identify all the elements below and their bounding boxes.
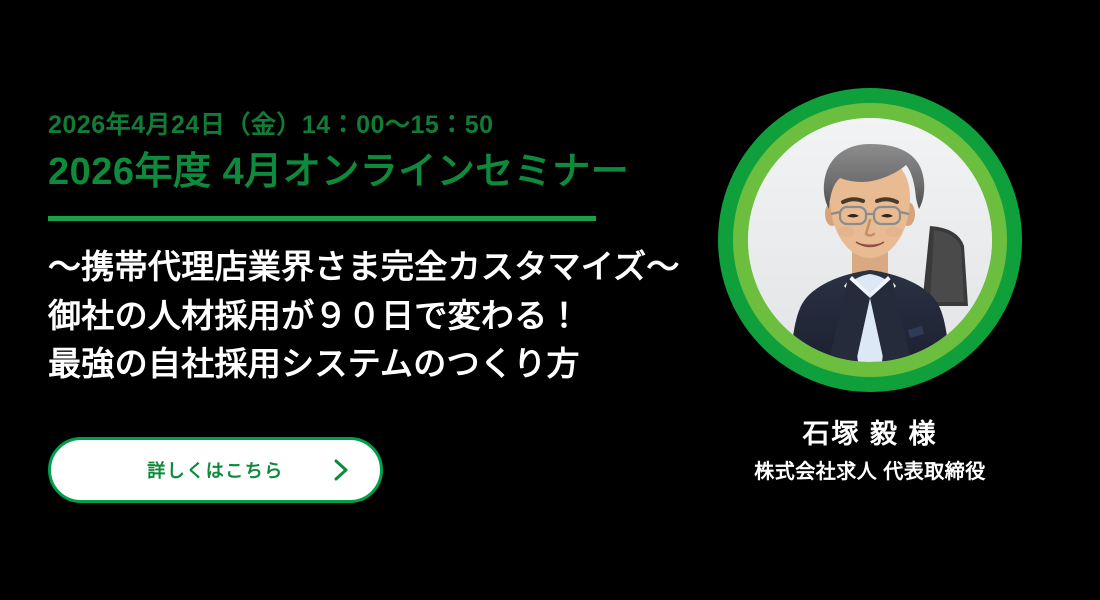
headline-line-2: 御社の人材採用が９０日で変わる！ <box>48 292 688 341</box>
speaker-caption: 石塚 毅 様 株式会社求人 代表取締役 <box>700 418 1040 484</box>
headline-line-1: 〜携帯代理店業界さま完全カスタマイズ〜 <box>48 243 688 292</box>
speaker-portrait <box>718 88 1022 392</box>
seminar-banner: 2026年4月24日（金）14：00〜15：50 2026年度 4月オンラインセ… <box>0 0 1100 600</box>
portrait-illustration <box>748 118 992 362</box>
portrait-photo <box>748 118 992 362</box>
event-date: 2026年4月24日（金）14：00〜15：50 <box>48 112 688 140</box>
details-cta-label: 詳しくはこちら <box>147 457 284 483</box>
banner-text-column: 2026年4月24日（金）14：00〜15：50 2026年度 4月オンラインセ… <box>48 112 688 389</box>
speaker-name: 石塚 毅 様 <box>700 418 1040 450</box>
headline-line-3: 最強の自社採用システムのつくり方 <box>48 340 688 389</box>
details-cta-button[interactable]: 詳しくはこちら <box>48 437 383 503</box>
headline-block: 〜携帯代理店業界さま完全カスタマイズ〜 御社の人材採用が９０日で変わる！ 最強の… <box>48 243 688 389</box>
speaker-role: 株式会社求人 代表取締役 <box>700 460 1040 484</box>
chevron-right-icon <box>334 459 348 481</box>
title-divider <box>48 216 596 221</box>
seminar-title: 2026年度 4月オンラインセミナー <box>48 151 688 195</box>
